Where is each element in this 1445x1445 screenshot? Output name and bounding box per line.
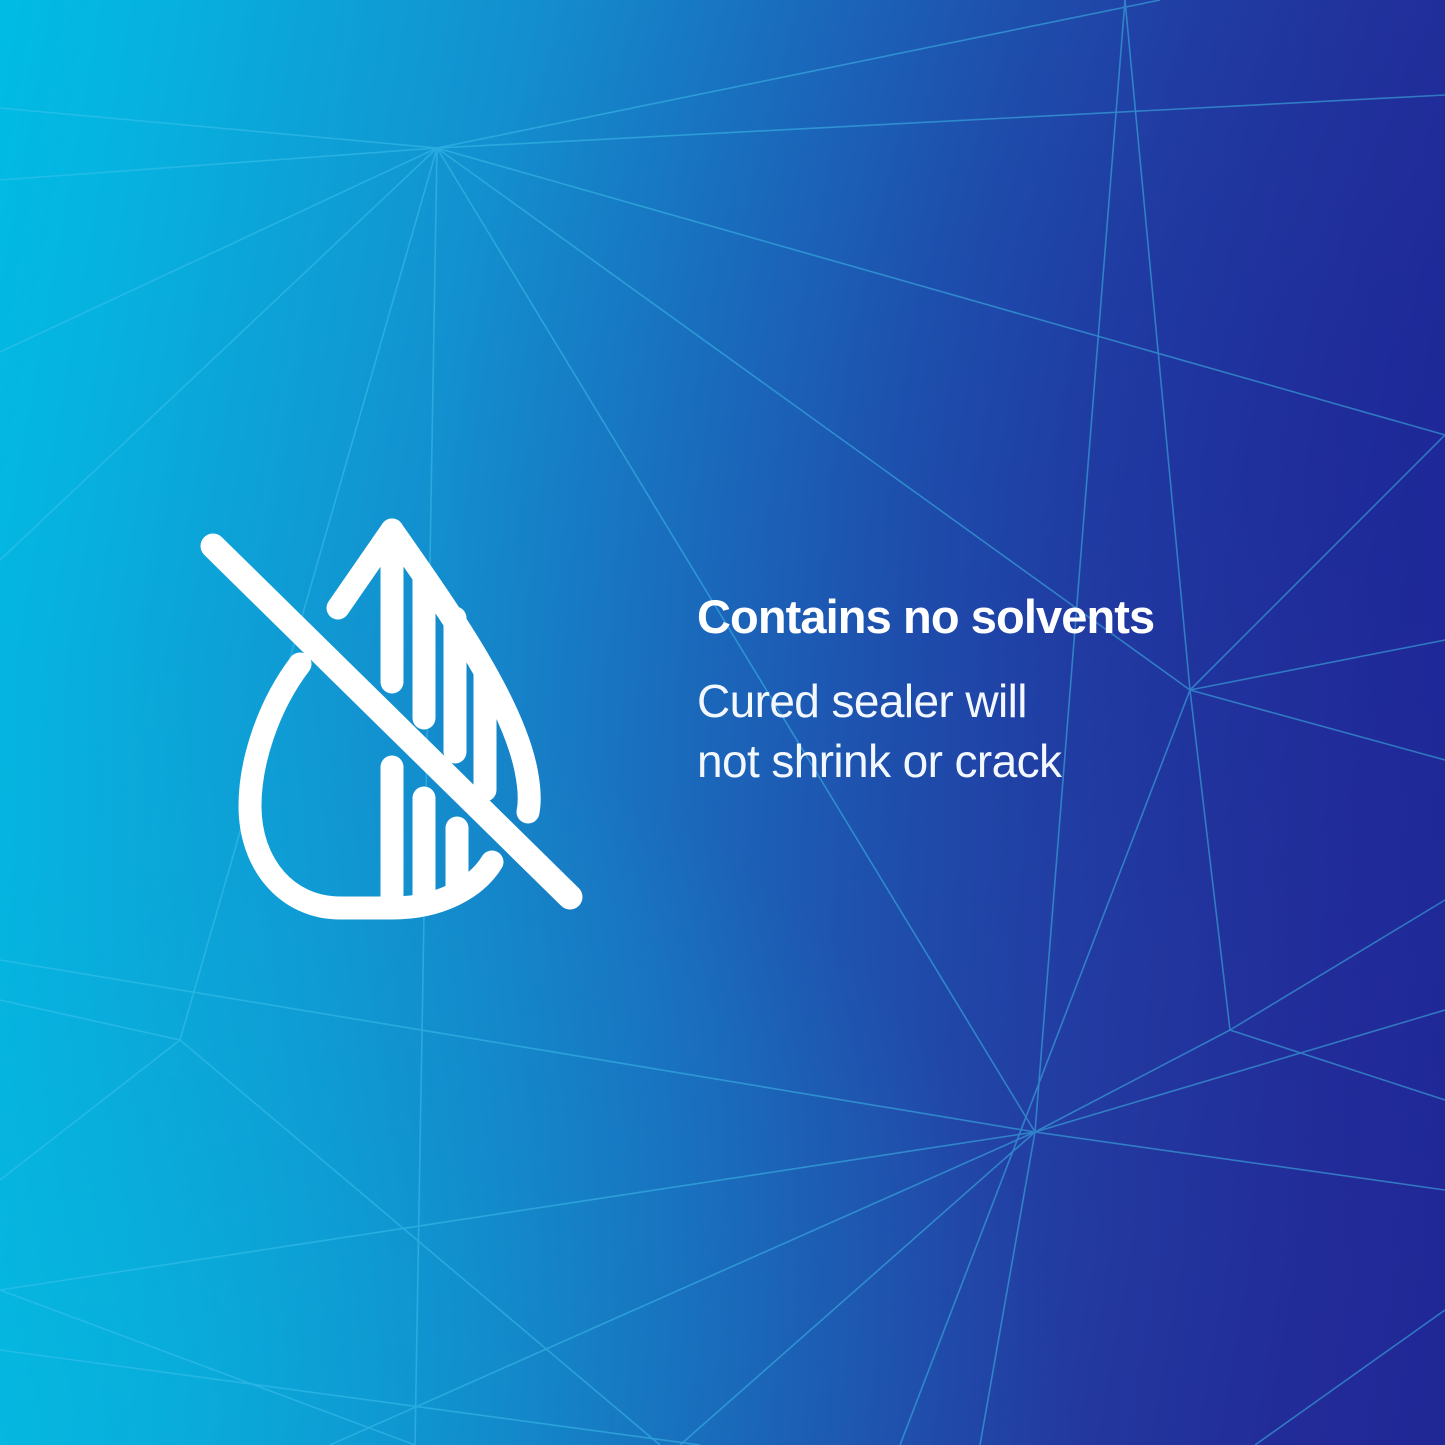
droplet-bottom-right-arc (392, 862, 492, 908)
body-line-1: Cured sealer will (697, 672, 1337, 732)
body-line-2: not shrink or crack (697, 732, 1337, 792)
no-solvents-droplet-icon (180, 500, 600, 940)
text-block: Contains no solvents Cured sealer will n… (697, 592, 1337, 791)
promo-card: Contains no solvents Cured sealer will n… (0, 0, 1445, 1445)
body-text: Cured sealer will not shrink or crack (697, 672, 1337, 792)
headline: Contains no solvents (697, 592, 1337, 642)
content-layer: Contains no solvents Cured sealer will n… (0, 0, 1445, 1445)
